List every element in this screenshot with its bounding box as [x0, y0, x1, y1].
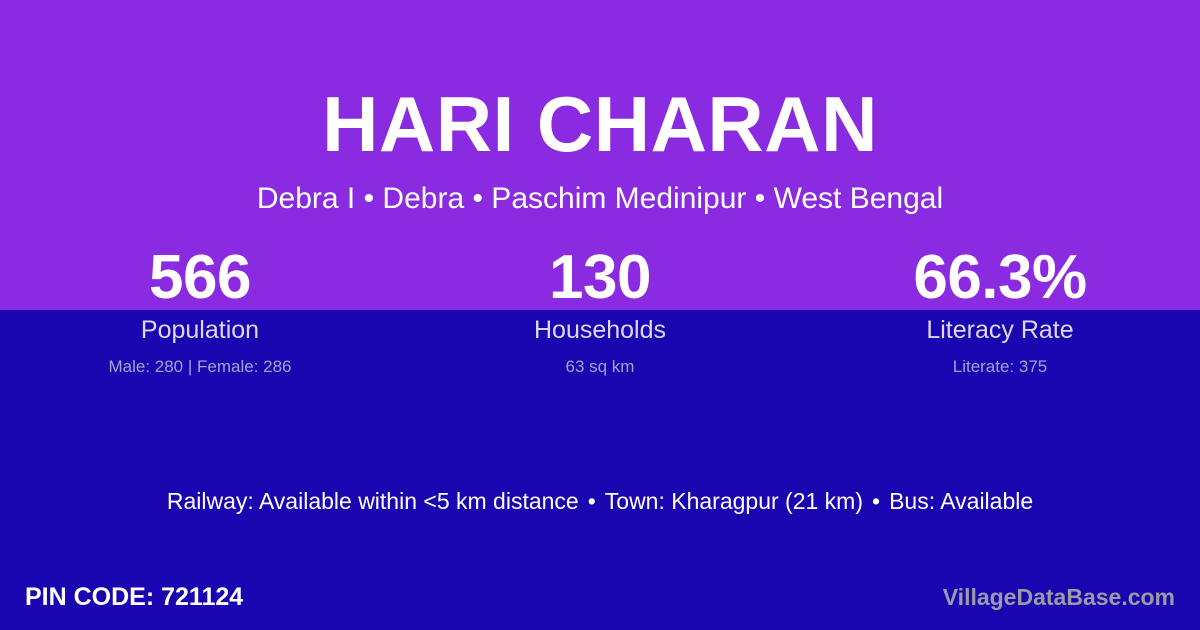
fact-bus: Bus: Available [889, 488, 1033, 514]
fact-separator-icon: • [863, 487, 889, 515]
village-info-card: HARI CHARAN Debra I • Debra • Paschim Me… [0, 0, 1200, 630]
fact-railway: Railway: Available within <5 km distance [167, 488, 579, 514]
stats-row: 566 Population Male: 280 | Female: 286 1… [0, 246, 1200, 378]
stat-households-label: Households [400, 315, 800, 345]
breadcrumb: Debra I • Debra • Paschim Medinipur • We… [0, 181, 1200, 217]
stat-literacy-sub: Literate: 375 [800, 356, 1200, 378]
stat-population-sub: Male: 280 | Female: 286 [0, 356, 400, 378]
stat-population-label: Population [0, 315, 400, 345]
stat-households-value: 130 [400, 246, 800, 310]
amenities-line: Railway: Available within <5 km distance… [0, 487, 1200, 515]
stat-literacy-value: 66.3% [800, 246, 1200, 310]
stat-literacy-label: Literacy Rate [800, 315, 1200, 345]
stat-population-value: 566 [0, 246, 400, 310]
stat-population: 566 Population Male: 280 | Female: 286 [0, 246, 400, 378]
brand-watermark: VillageDataBase.com [943, 582, 1175, 612]
fact-town: Town: Kharagpur (21 km) [605, 488, 863, 514]
footer-bar: PIN CODE: 721124 VillageDataBase.com [0, 578, 1200, 616]
stat-households-sub: 63 sq km [400, 356, 800, 378]
pin-code: PIN CODE: 721124 [25, 582, 243, 612]
page-title: HARI CHARAN [0, 82, 1200, 166]
stat-households: 130 Households 63 sq km [400, 246, 800, 378]
stat-literacy: 66.3% Literacy Rate Literate: 375 [800, 246, 1200, 378]
fact-separator-icon: • [579, 487, 605, 515]
